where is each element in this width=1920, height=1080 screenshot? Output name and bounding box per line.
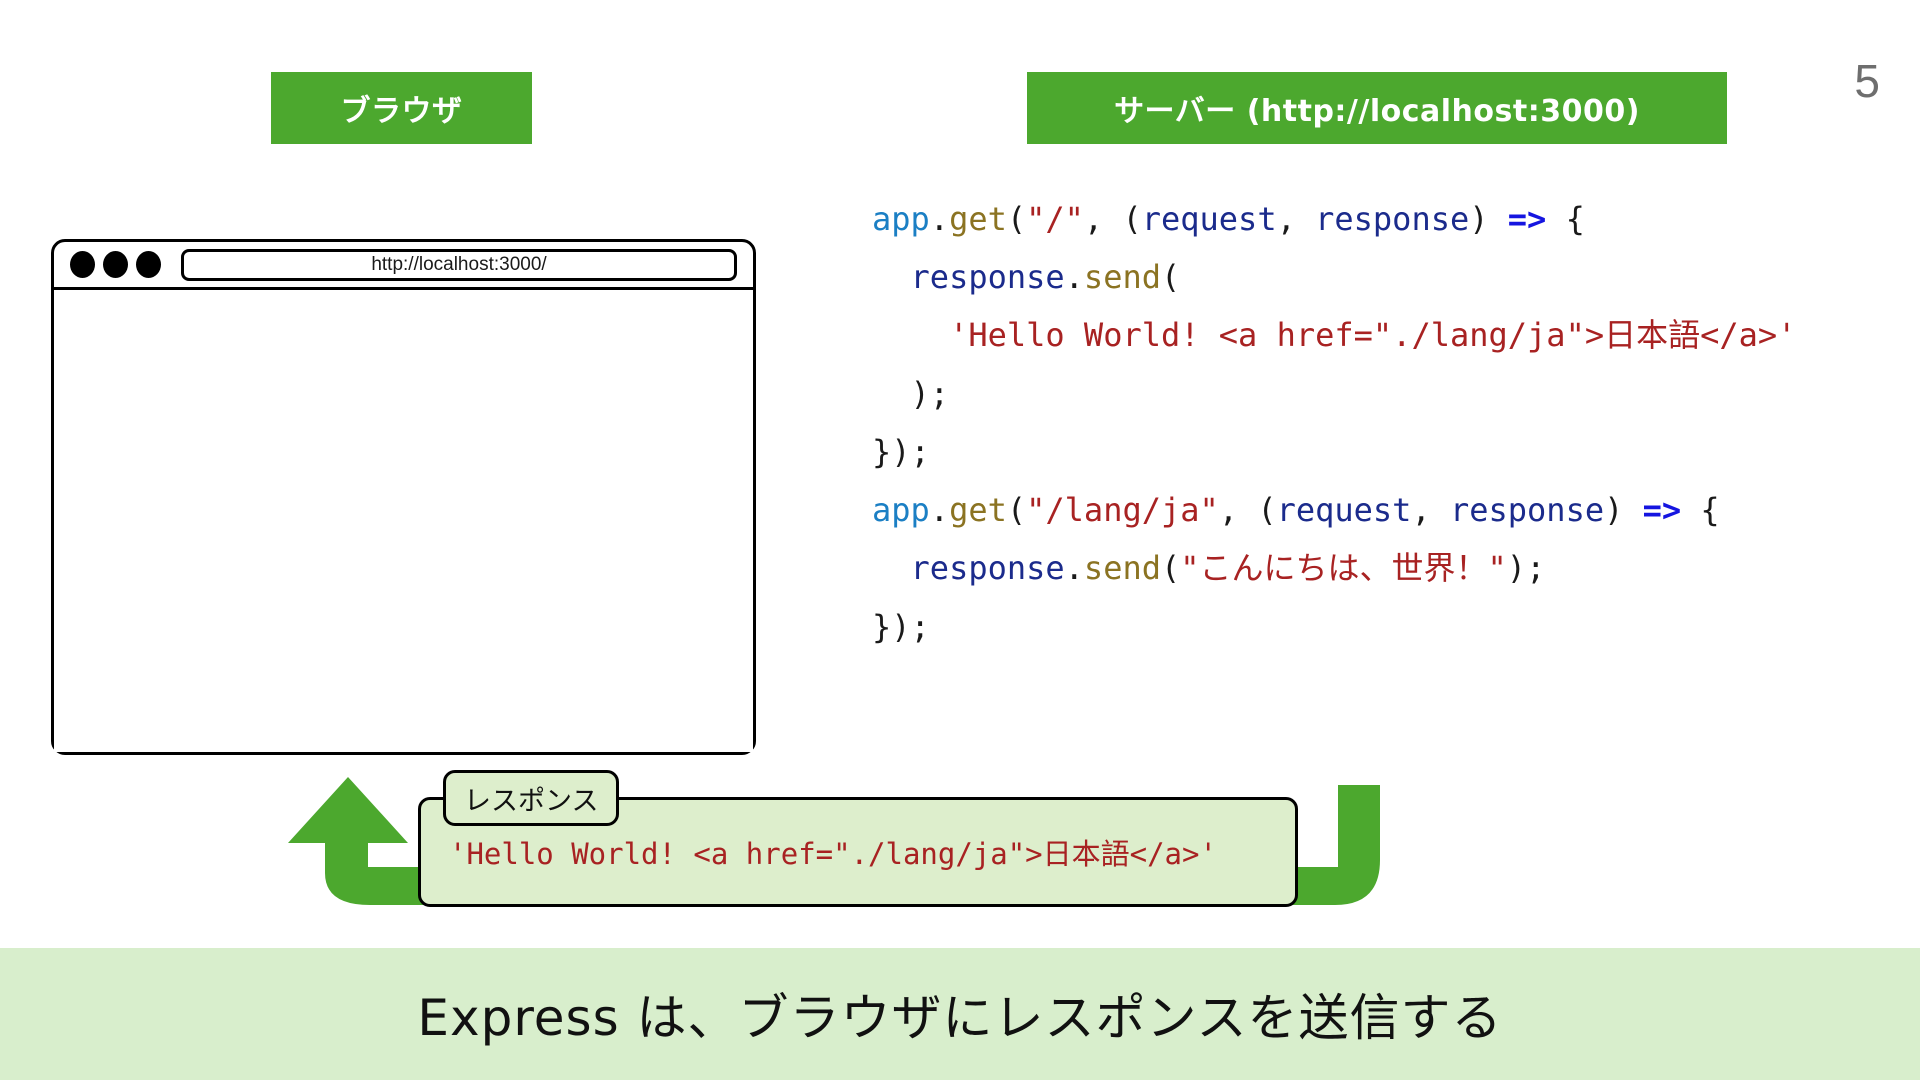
code-token: { <box>1546 200 1585 238</box>
caption-text: Express は、ブラウザにレスポンスを送信する <box>417 978 1502 1050</box>
code-token: ); <box>911 375 950 413</box>
code-token: app <box>872 491 930 529</box>
code-indent <box>872 549 911 587</box>
browser-window-mockup: http://localhost:3000/ <box>51 239 756 755</box>
code-token: ( <box>1161 549 1180 587</box>
response-label-tab-text: レスポンス <box>464 779 598 818</box>
server-section-header-label: サーバー (http://localhost:3000) <box>1114 86 1640 130</box>
page-number: 5 <box>1854 58 1880 104</box>
code-token: , <box>1277 200 1316 238</box>
code-line: ); <box>872 365 1796 423</box>
code-token: response <box>1315 200 1469 238</box>
code-line: response.send( <box>872 248 1796 306</box>
code-line: response.send("こんにちは、世界！"); <box>872 539 1796 597</box>
code-token: ( <box>1007 491 1026 529</box>
code-token: . <box>1065 258 1084 296</box>
browser-section-header-label: ブラウザ <box>341 86 463 130</box>
code-token: ) <box>1604 491 1643 529</box>
browser-viewport <box>54 290 753 752</box>
code-token: "/lang/ja" <box>1026 491 1219 529</box>
code-token: response <box>911 258 1065 296</box>
code-token: . <box>930 491 949 529</box>
address-bar[interactable]: http://localhost:3000/ <box>181 249 737 281</box>
code-token: 'Hello World! <a href="./lang/ja">日本語</a… <box>949 316 1796 354</box>
address-bar-value: http://localhost:3000/ <box>371 254 546 276</box>
code-line: }); <box>872 423 1796 481</box>
code-token: send <box>1084 549 1161 587</box>
code-indent <box>872 316 949 354</box>
window-maximize-icon[interactable] <box>136 251 161 278</box>
code-line: 'Hello World! <a href="./lang/ja">日本語</a… <box>872 306 1796 364</box>
code-token: , ( <box>1219 491 1277 529</box>
code-token: ( <box>1007 200 1026 238</box>
code-token: ); <box>1507 549 1546 587</box>
code-token: => <box>1508 200 1547 238</box>
window-minimize-icon[interactable] <box>103 251 128 278</box>
code-token: response <box>911 549 1065 587</box>
code-token: response <box>1450 491 1604 529</box>
code-token: , ( <box>1084 200 1142 238</box>
response-label-tab: レスポンス <box>443 770 619 826</box>
code-token: }); <box>872 608 930 646</box>
code-token: => <box>1643 491 1682 529</box>
browser-toolbar: http://localhost:3000/ <box>54 242 753 290</box>
code-line: app.get("/lang/ja", (request, response) … <box>872 481 1796 539</box>
window-close-icon[interactable] <box>70 251 95 278</box>
code-line: app.get("/", (request, response) => { <box>872 190 1796 248</box>
server-code-block: app.get("/", (request, response) => { re… <box>872 190 1796 656</box>
code-indent <box>872 375 911 413</box>
code-token: ) <box>1469 200 1508 238</box>
code-token: , <box>1411 491 1450 529</box>
code-token: . <box>930 200 949 238</box>
response-payload-text: 'Hello World! <a href="./lang/ja">日本語</a… <box>449 831 1217 873</box>
code-indent <box>872 258 911 296</box>
code-token: request <box>1142 200 1277 238</box>
code-token: "/" <box>1026 200 1084 238</box>
code-token: "こんにちは、世界！" <box>1180 549 1507 587</box>
code-token: request <box>1277 491 1412 529</box>
code-token: }); <box>872 433 930 471</box>
code-token: get <box>949 200 1007 238</box>
server-section-header: サーバー (http://localhost:3000) <box>1027 72 1727 144</box>
code-token: ( <box>1161 258 1180 296</box>
code-token: { <box>1681 491 1720 529</box>
code-token: get <box>949 491 1007 529</box>
code-line: }); <box>872 598 1796 656</box>
caption-band: Express は、ブラウザにレスポンスを送信する <box>0 948 1920 1080</box>
browser-section-header: ブラウザ <box>271 72 532 144</box>
code-token: send <box>1084 258 1161 296</box>
code-token: app <box>872 200 930 238</box>
code-token: . <box>1065 549 1084 587</box>
